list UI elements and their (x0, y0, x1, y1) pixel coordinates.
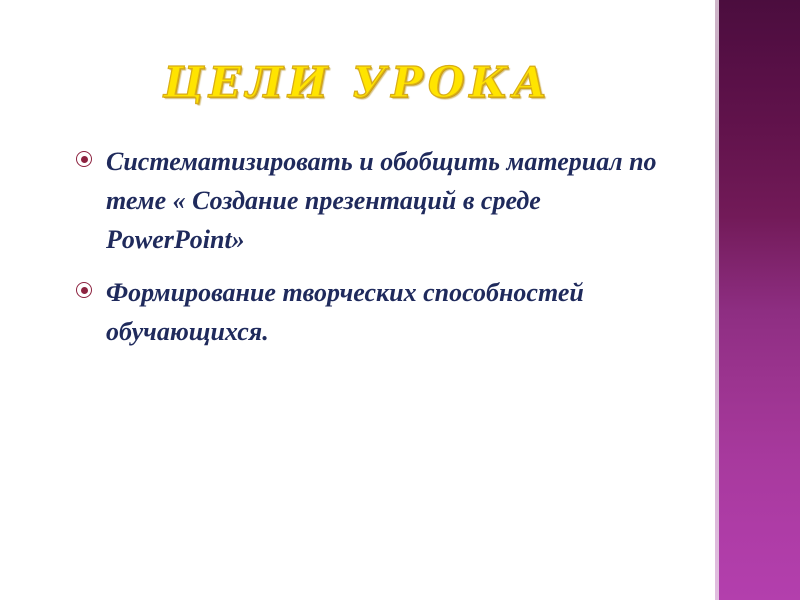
band-gradient-fill (719, 0, 800, 600)
page-title: ЦЕЛИ УРОКА (0, 62, 715, 104)
ring-bullet-icon (76, 282, 92, 298)
presentation-slide: ЦЕЛИ УРОКА Систематизировать и обобщить … (0, 0, 800, 600)
list-item-text: Систематизировать и обобщить материал по… (106, 142, 674, 259)
list-item: Формирование творческих способностей обу… (74, 273, 674, 351)
list-item-text: Формирование творческих способностей обу… (106, 273, 674, 351)
list-item: Систематизировать и обобщить материал по… (74, 142, 674, 259)
purple-gradient-band (715, 0, 800, 600)
ring-bullet-icon (76, 151, 92, 167)
objectives-list: Систематизировать и обобщить материал по… (74, 142, 674, 365)
